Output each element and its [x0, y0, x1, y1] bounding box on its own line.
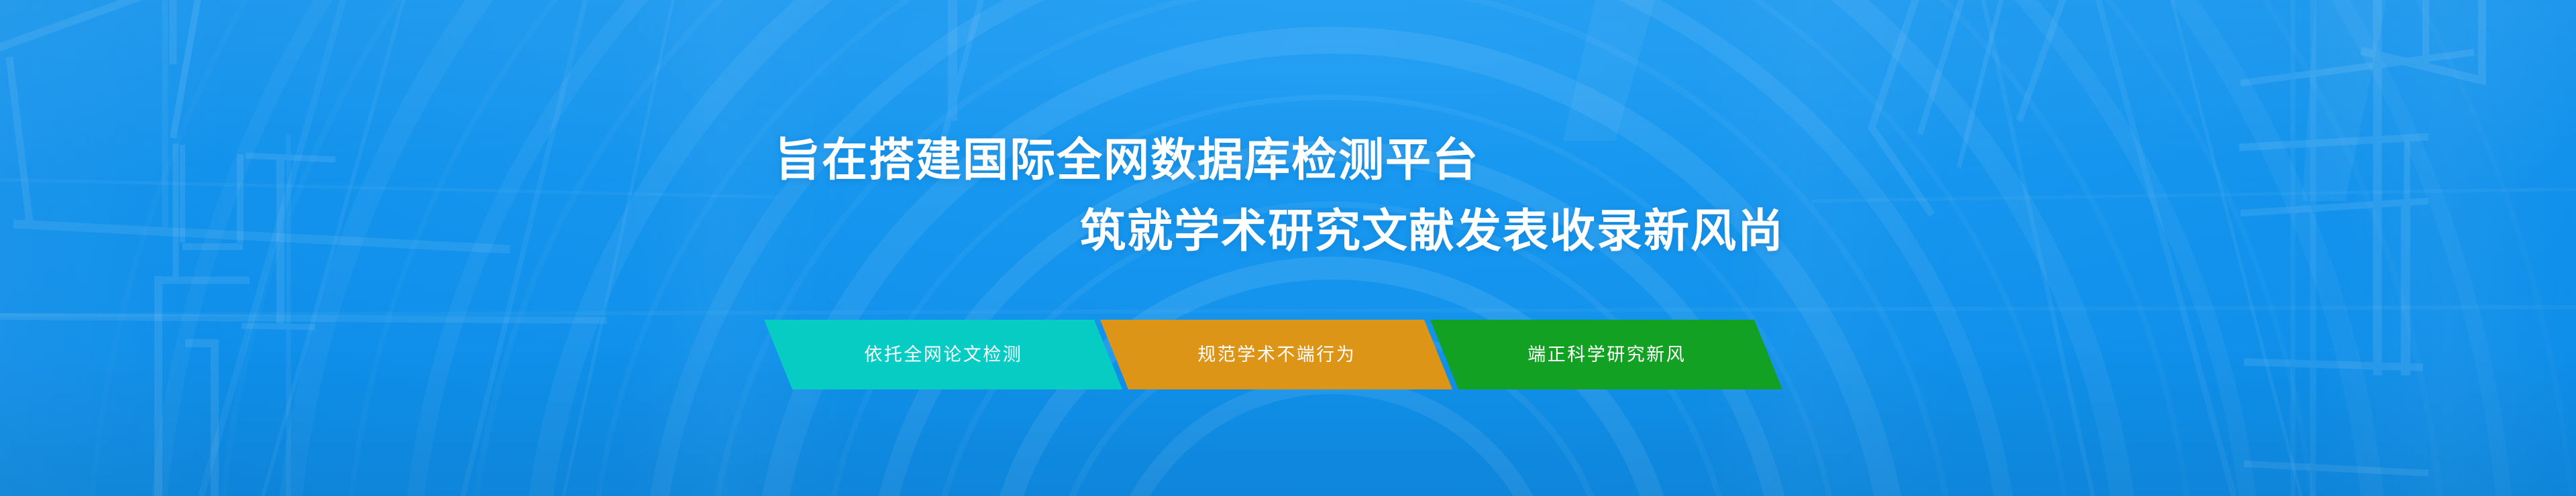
tag-academic-misconduct[interactable]: 规范学术不端行为 [1100, 320, 1452, 389]
tag-research-ethos[interactable]: 端正科学研究新风 [1430, 320, 1782, 389]
promo-banner: 旨在搭建国际全网数据库检测平台 筑就学术研究文献发表收录新风尚 依托全网论文检测… [0, 0, 2576, 496]
tag-paper-detection-label: 依托全网论文检测 [864, 346, 1022, 364]
tag-academic-misconduct-label: 规范学术不端行为 [1197, 346, 1356, 364]
headline-line-1: 旨在搭建国际全网数据库检测平台 [775, 137, 1479, 183]
tag-research-ethos-label: 端正科学研究新风 [1527, 346, 1686, 364]
tag-paper-detection[interactable]: 依托全网论文检测 [764, 320, 1122, 389]
headline-line-2: 筑就学术研究文献发表收录新风尚 [1080, 208, 1784, 254]
feature-tag-strip: 依托全网论文检测 规范学术不端行为 端正科学研究新风 [778, 320, 1768, 389]
